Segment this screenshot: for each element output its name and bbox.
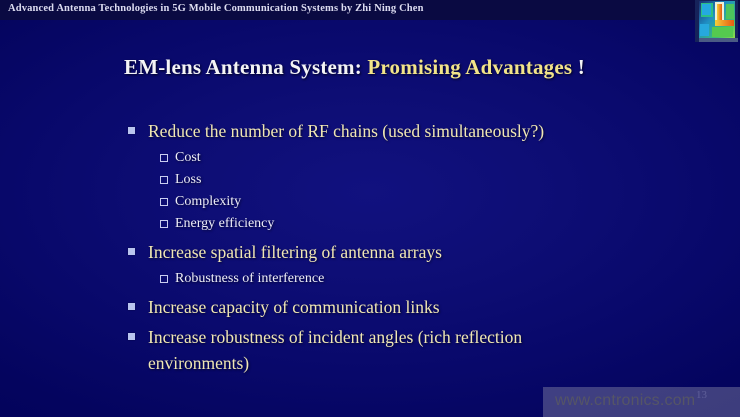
bullet-item: Increase robustness of incident angles (…	[0, 324, 740, 376]
hollow-square-bullet-icon	[160, 176, 168, 184]
sub-bullet-item: Loss	[0, 169, 740, 191]
slide-title-suffix: !	[572, 55, 585, 79]
bullet-text: Reduce the number of RF chains (used sim…	[148, 118, 578, 144]
filled-square-bullet-icon	[128, 248, 135, 255]
watermark-overlay: www.cntronics.com	[543, 387, 740, 417]
sub-bullet-text: Energy efficiency	[175, 213, 740, 235]
filled-square-bullet-icon	[128, 127, 135, 134]
slide-header-bar: Advanced Antenna Technologies in 5G Mobi…	[0, 0, 740, 20]
sub-bullet-item: Robustness of interference	[0, 268, 740, 290]
sub-bullet-item: Cost	[0, 147, 740, 169]
em-simulation-thumbnail-icon	[695, 0, 738, 42]
hollow-square-bullet-icon	[160, 220, 168, 228]
hollow-square-bullet-icon	[160, 275, 168, 283]
bullet-text: Increase robustness of incident angles (…	[148, 324, 578, 376]
bullet-item: Reduce the number of RF chains (used sim…	[0, 118, 740, 144]
sub-bullet-item: Complexity	[0, 191, 740, 213]
bullet-item: Increase spatial filtering of antenna ar…	[0, 239, 740, 265]
bullet-text: Increase capacity of communication links	[148, 294, 578, 320]
sub-bullet-text: Robustness of interference	[175, 268, 740, 290]
hollow-square-bullet-icon	[160, 198, 168, 206]
bullet-item: Increase capacity of communication links	[0, 294, 740, 320]
sub-bullet-text: Cost	[175, 147, 740, 169]
bullet-list: Reduce the number of RF chains (used sim…	[0, 118, 740, 379]
sub-bullet-text: Complexity	[175, 191, 740, 213]
bullet-text: Increase spatial filtering of antenna ar…	[148, 239, 578, 265]
slide-title-highlight: Promising Advantages	[367, 55, 572, 79]
presentation-title: Advanced Antenna Technologies in 5G Mobi…	[8, 3, 424, 14]
slide-title: EM-lens Antenna System: Promising Advant…	[124, 55, 585, 80]
sub-bullet-text: Loss	[175, 169, 740, 191]
hollow-square-bullet-icon	[160, 154, 168, 162]
slide-title-prefix: EM-lens Antenna System:	[124, 55, 367, 79]
filled-square-bullet-icon	[128, 303, 135, 310]
slide-canvas: Advanced Antenna Technologies in 5G Mobi…	[0, 0, 740, 417]
watermark-text: www.cntronics.com	[555, 392, 695, 410]
field-plot-graphic	[695, 0, 738, 42]
sub-bullet-item: Energy efficiency	[0, 213, 740, 235]
filled-square-bullet-icon	[128, 333, 135, 340]
